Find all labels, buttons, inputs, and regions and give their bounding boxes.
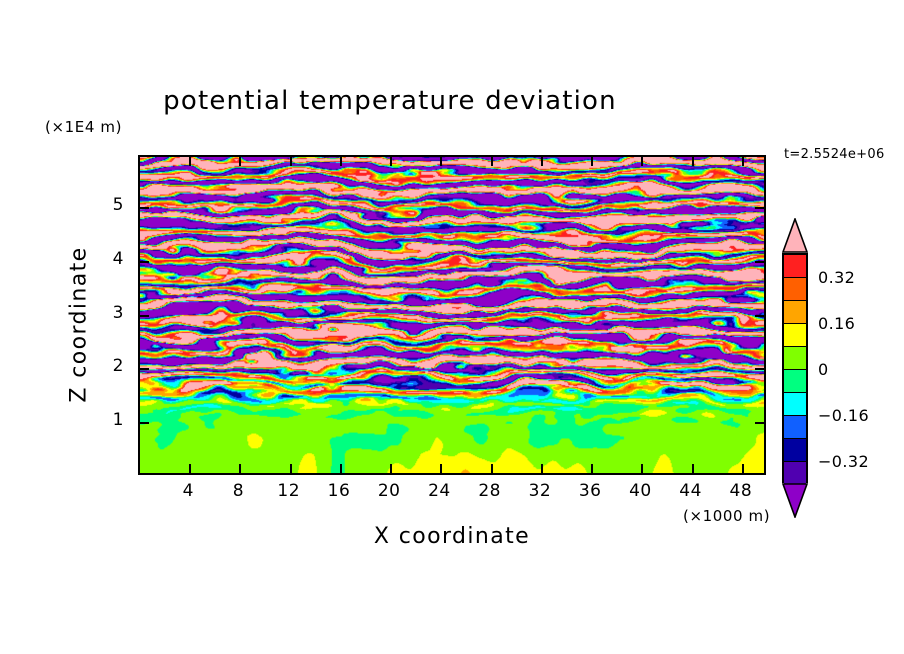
x-tick-mark — [189, 464, 191, 473]
x-tick-label: 20 — [369, 481, 409, 501]
colorbar-band — [784, 324, 806, 347]
x-tick-mark — [390, 464, 392, 473]
colorbar-band — [784, 301, 806, 324]
colorbar-band — [784, 347, 806, 370]
colorbar-band — [784, 439, 806, 462]
x-tick-label: 40 — [620, 481, 660, 501]
y-tick-label: 1 — [94, 410, 124, 430]
y-tick-label: 4 — [94, 249, 124, 269]
x-tick-mark — [641, 157, 643, 166]
timestamp-annotation: t=2.5524e+06 — [784, 147, 885, 162]
x-tick-mark — [591, 464, 593, 473]
x-tick-label: 48 — [721, 481, 761, 501]
x-tick-label: 28 — [470, 481, 510, 501]
x-tick-label: 44 — [671, 481, 711, 501]
y-tick-mark — [755, 261, 764, 263]
x-tick-label: 4 — [168, 481, 208, 501]
x-tick-mark — [390, 157, 392, 166]
y-tick-mark — [755, 368, 764, 370]
x-tick-label: 24 — [419, 481, 459, 501]
y-tick-label: 5 — [94, 195, 124, 215]
contour-plot-figure: potential temperature deviation (×1E4 m)… — [0, 0, 904, 654]
colorbar-bands — [782, 253, 808, 483]
x-tick-mark — [491, 464, 493, 473]
colorbar-tick-label: 0 — [818, 360, 829, 379]
y-tick-mark — [140, 261, 149, 263]
x-tick-mark — [591, 157, 593, 166]
x-tick-label: 36 — [570, 481, 610, 501]
x-tick-label: 8 — [218, 481, 258, 501]
y-axis-unit-label: (×1E4 m) — [45, 118, 122, 136]
y-tick-mark — [755, 207, 764, 209]
x-tick-mark — [290, 157, 292, 166]
y-tick-mark — [755, 315, 764, 317]
colorbar-band — [784, 393, 806, 416]
colorbar-band — [784, 370, 806, 393]
y-tick-mark — [140, 422, 149, 424]
colorbar-tick-label: 0.32 — [818, 268, 855, 287]
plot-area — [138, 155, 766, 475]
y-axis-label: Z coordinate — [67, 225, 92, 425]
y-tick-mark — [140, 368, 149, 370]
colorbar-over-arrow-icon — [782, 218, 808, 253]
colorbar-band — [784, 278, 806, 301]
contour-field-canvas — [140, 157, 764, 473]
colorbar-tick-label: −0.32 — [818, 452, 869, 471]
x-tick-mark — [440, 157, 442, 166]
colorbar — [779, 218, 813, 518]
x-tick-mark — [290, 464, 292, 473]
x-tick-mark — [692, 157, 694, 166]
x-tick-mark — [189, 157, 191, 166]
x-tick-mark — [692, 464, 694, 473]
y-tick-mark — [140, 315, 149, 317]
colorbar-band — [784, 416, 806, 439]
colorbar-band — [784, 462, 806, 485]
x-tick-mark — [641, 464, 643, 473]
x-tick-mark — [239, 157, 241, 166]
colorbar-under-arrow-icon — [782, 483, 808, 518]
y-tick-label: 3 — [94, 303, 124, 323]
x-axis-label: X coordinate — [138, 524, 766, 549]
y-tick-mark — [755, 422, 764, 424]
x-tick-mark — [440, 464, 442, 473]
x-tick-mark — [541, 157, 543, 166]
x-tick-mark — [742, 157, 744, 166]
x-tick-mark — [491, 157, 493, 166]
x-tick-mark — [541, 464, 543, 473]
x-tick-mark — [742, 464, 744, 473]
colorbar-tick-label: −0.16 — [818, 406, 869, 425]
x-tick-mark — [239, 464, 241, 473]
y-tick-label: 2 — [94, 356, 124, 376]
x-tick-label: 32 — [520, 481, 560, 501]
colorbar-band — [784, 255, 806, 278]
x-tick-label: 12 — [269, 481, 309, 501]
page-title: potential temperature deviation — [0, 86, 780, 116]
x-tick-label: 16 — [319, 481, 359, 501]
x-tick-mark — [340, 157, 342, 166]
x-axis-unit-label: (×1000 m) — [683, 507, 770, 525]
x-tick-mark — [340, 464, 342, 473]
colorbar-tick-label: 0.16 — [818, 314, 855, 333]
y-tick-mark — [140, 207, 149, 209]
